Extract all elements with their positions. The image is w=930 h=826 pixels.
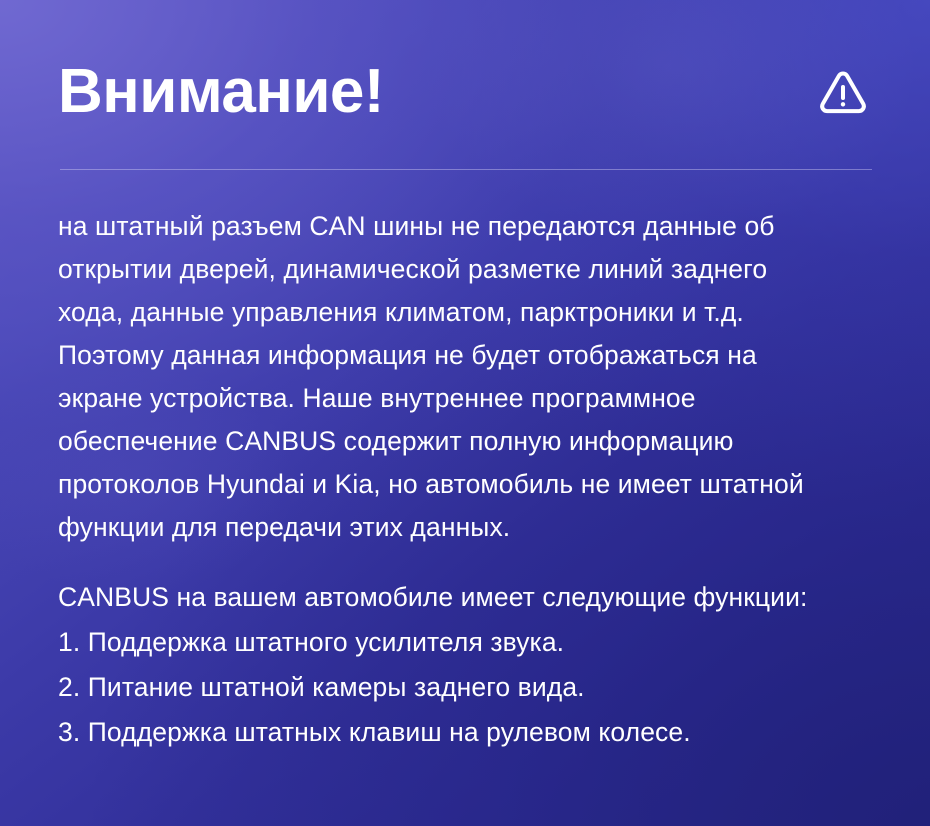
paragraph-line: на штатный разъем CAN шины не передаются…: [58, 205, 880, 248]
list-item: 3. Поддержка штатных клавиш на рулевом к…: [58, 710, 880, 755]
paragraph-line: протоколов Hyundai и Kia, но автомобиль …: [58, 463, 880, 506]
paragraph-line: Поэтому данная информация не будет отобр…: [58, 334, 880, 377]
paragraph-line: хода, данные управления климатом, парктр…: [58, 291, 880, 334]
list-item: 1. Поддержка штатного усилителя звука.: [58, 620, 880, 665]
paragraph-line: функции для передачи этих данных.: [58, 506, 880, 549]
features-section: CANBUS на вашем автомобиле имеет следующ…: [58, 575, 880, 755]
banner-header: Внимание!: [58, 48, 872, 136]
header-divider: [60, 169, 872, 170]
warning-banner: Внимание! на штатный разъем CAN шины не …: [0, 0, 930, 826]
warning-paragraph: на штатный разъем CAN шины не передаются…: [58, 205, 880, 549]
features-intro: CANBUS на вашем автомобиле имеет следующ…: [58, 575, 880, 620]
banner-body: на штатный разъем CAN шины не передаются…: [58, 205, 880, 755]
page-title: Внимание!: [58, 61, 384, 123]
paragraph-line: обеспечение CANBUS содержит полную инфор…: [58, 420, 880, 463]
list-item: 2. Питание штатной камеры заднего вида.: [58, 665, 880, 710]
paragraph-line: экране устройства. Наше внутреннее прогр…: [58, 377, 880, 420]
paragraph-line: открытии дверей, динамической разметке л…: [58, 248, 880, 291]
warning-triangle-icon: [816, 65, 870, 119]
